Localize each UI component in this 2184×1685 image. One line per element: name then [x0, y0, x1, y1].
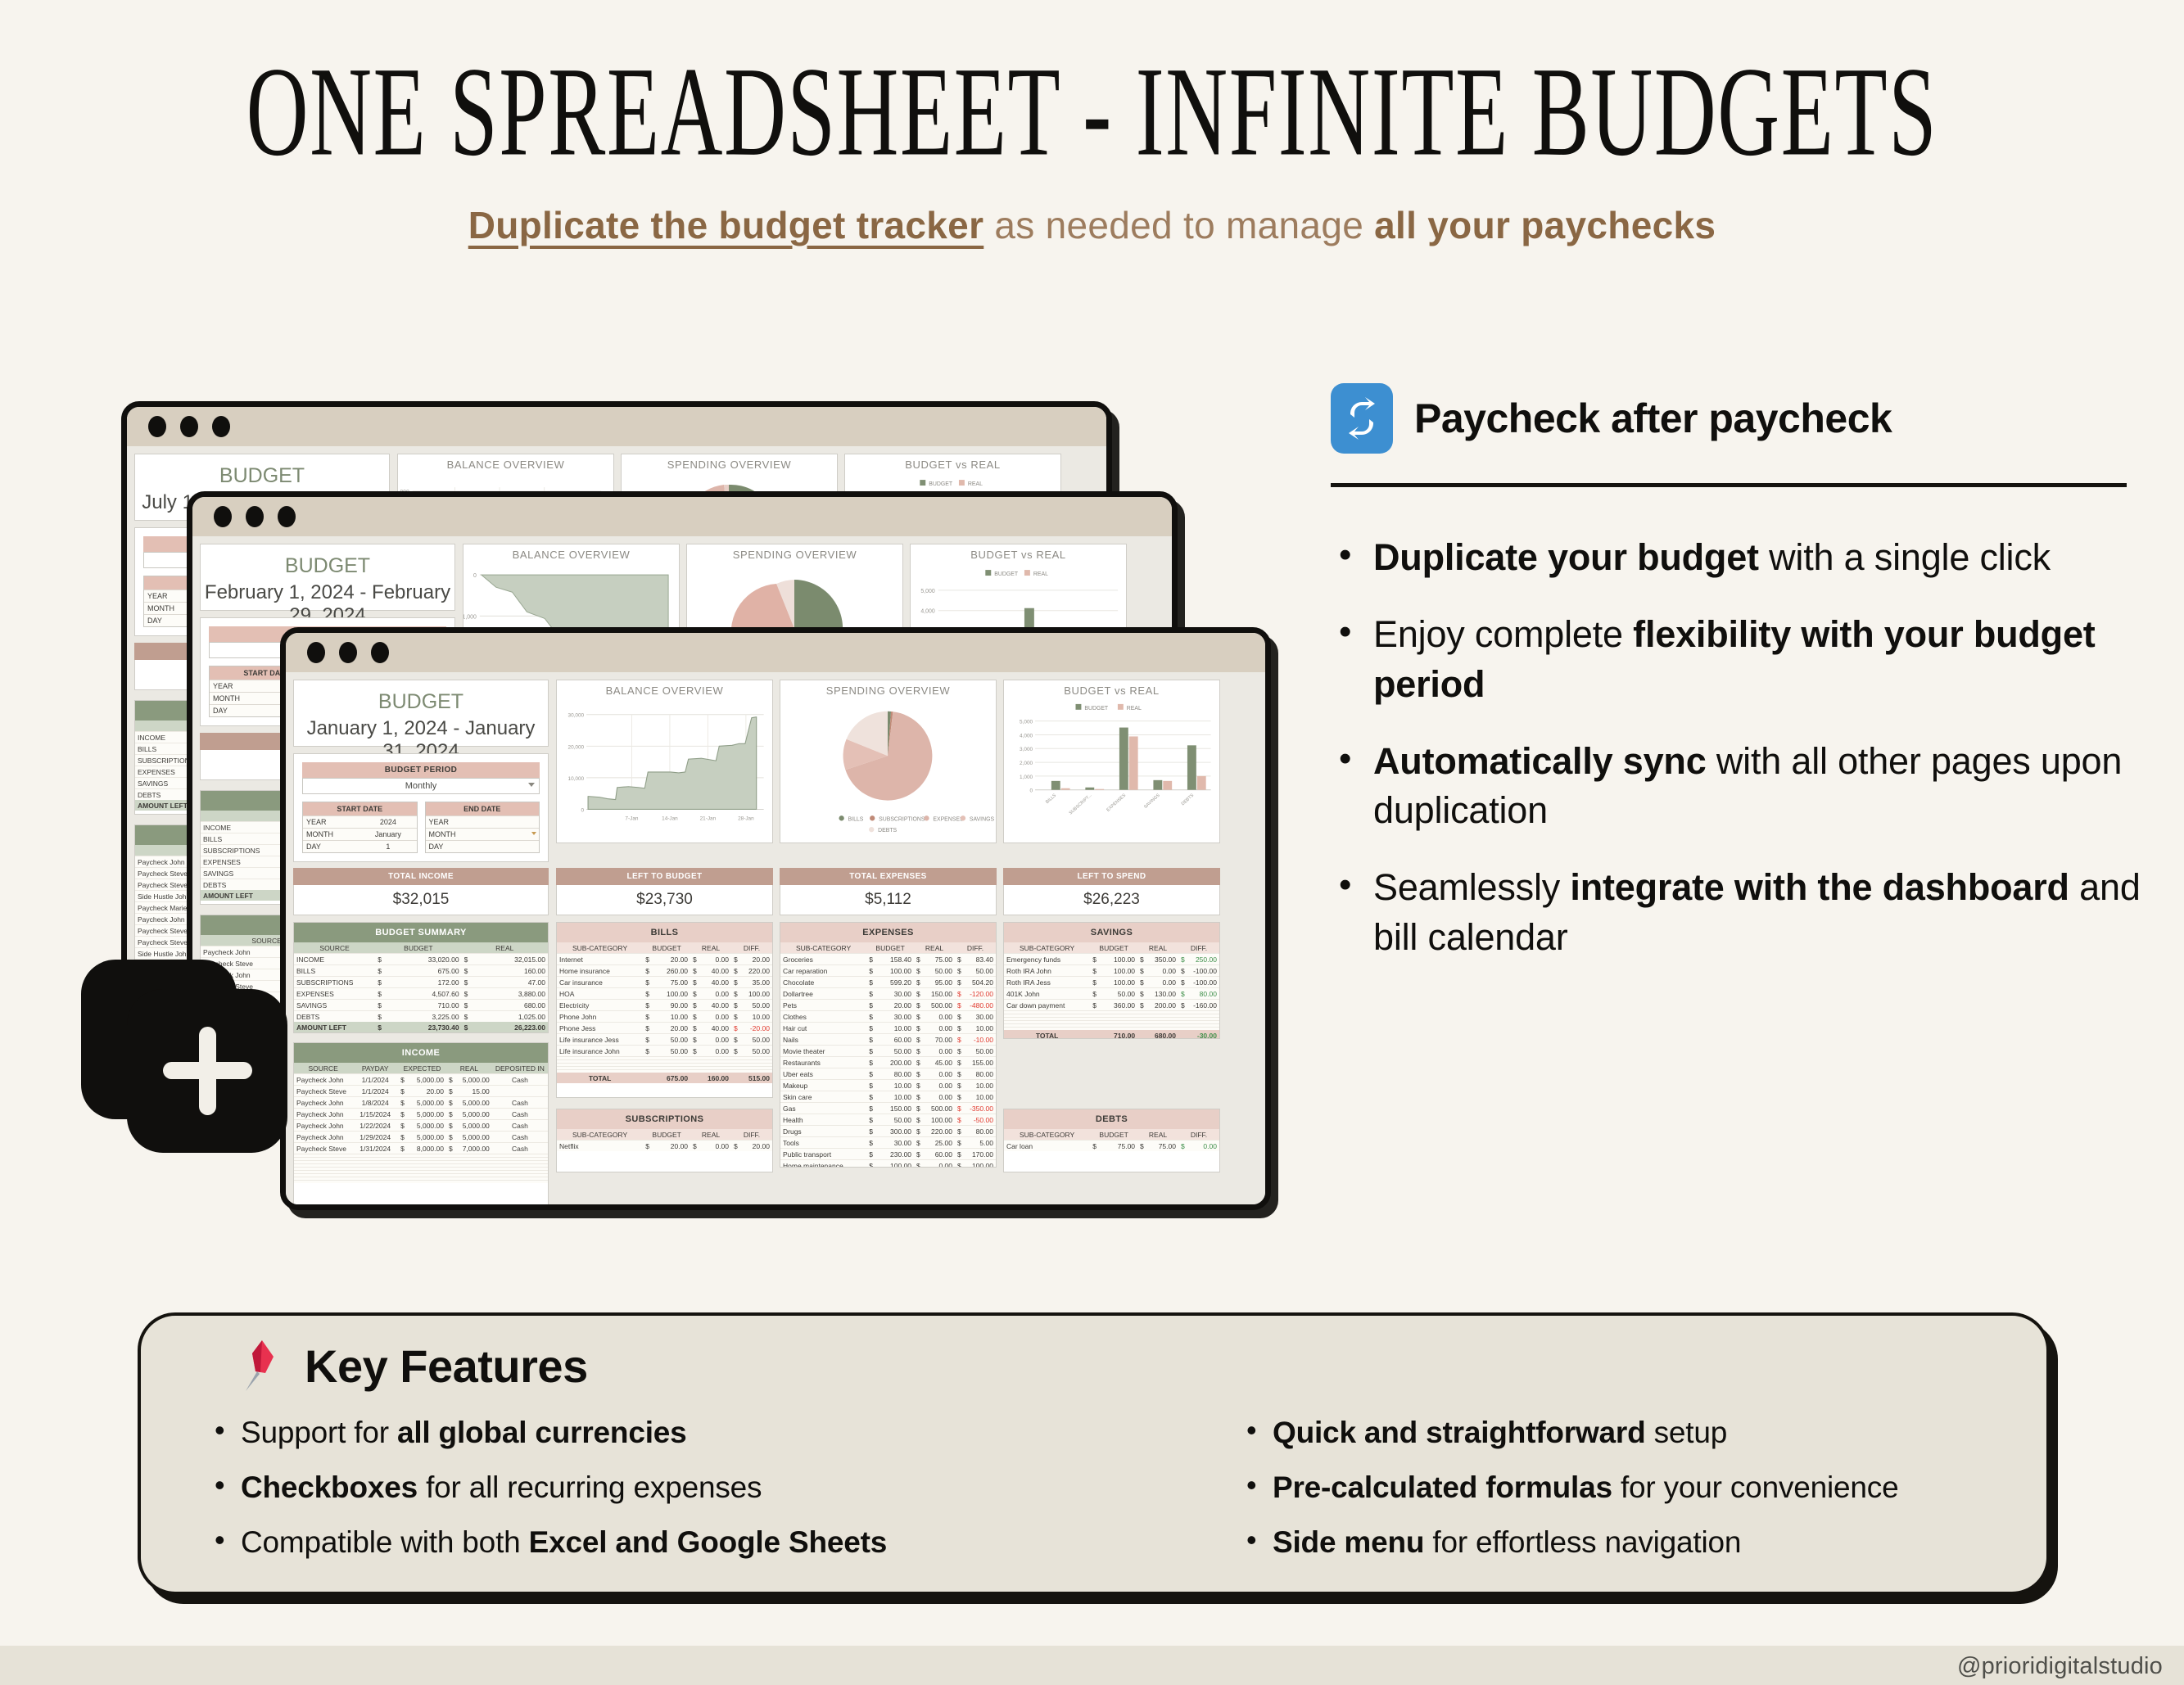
date-field-day: DAY: [426, 840, 540, 852]
table-row: Tools$30.00$25.00$5.00: [780, 1136, 996, 1148]
svg-text:BUDGET: BUDGET: [929, 481, 953, 487]
svg-text:SUBSCRIPT...: SUBSCRIPT...: [1069, 793, 1093, 815]
table-row: EXPENSES$4,507.60$3,880.00: [294, 987, 548, 999]
kpi-total-expenses: TOTAL EXPENSES $5,112: [780, 868, 997, 915]
budget-period-select[interactable]: Monthly: [302, 778, 540, 794]
table-header-row: SUB-CATEGORY BUDGET REAL DIFF.: [557, 1129, 772, 1140]
svg-text:SAVINGS: SAVINGS: [1143, 793, 1161, 810]
svg-text:14-Jan: 14-Jan: [662, 815, 678, 821]
table-row: Clothes$30.00$0.00$30.00: [780, 1010, 996, 1022]
kpi-value: $5,112: [780, 885, 997, 915]
svg-text:0: 0: [473, 573, 477, 579]
svg-text:REAL: REAL: [1033, 571, 1048, 577]
subscriptions-table: SUBSCRIPTIONS SUB-CATEGORY BUDGET REAL D…: [556, 1109, 773, 1172]
table-row: Gas$150.00$500.00$-350.00: [780, 1102, 996, 1114]
window-close-dot[interactable]: [148, 416, 166, 437]
svg-text:0: 0: [1030, 788, 1033, 794]
page-title: ONE SPREADSHEET - INFINITE BUDGETS: [197, 47, 1987, 175]
kpi-label: LEFT TO SPEND: [1003, 868, 1220, 885]
svg-text:SUBSCRIPTIONS: SUBSCRIPTIONS: [879, 816, 925, 822]
table-header-row: SUB-CATEGORY BUDGET REAL DIFF.: [1004, 1129, 1219, 1140]
table-row: Makeup$10.00$0.00$10.00: [780, 1079, 996, 1091]
duplicate-add-icon[interactable]: [78, 956, 315, 1186]
table-row: Paycheck Steve1/31/2024$8,000.00$7,000.0…: [294, 1142, 548, 1154]
feature-heading-row: Paycheck after paycheck: [1331, 383, 2150, 454]
table-row-empty: [1004, 1023, 1219, 1027]
svg-text:BUDGET: BUDGET: [1084, 706, 1109, 711]
kpi-label: LEFT TO BUDGET: [556, 868, 773, 885]
kpi-total-income: TOTAL INCOME $32,015: [293, 868, 549, 915]
table-row: INCOME$33,020.00$32,015.00: [294, 953, 548, 964]
table-row: Electricity$90.00$40.00$50.00: [557, 999, 772, 1010]
table-row: Home maintenance$100.00$0.00$100.00: [780, 1159, 996, 1168]
table-row: Car down payment$360.00$200.00$-160.00: [1004, 999, 1219, 1010]
budget-vs-real-chart: BUDGET REAL 5,000 4,000 3,000 2,000 1,00…: [1004, 697, 1219, 841]
income-table: INCOME SOURCE PAYDAY EXPECTED REAL DEPOS…: [293, 1042, 549, 1210]
table-row: Life insurance Jess$50.00$0.00$50.00: [557, 1033, 772, 1045]
key-feature-item: Pre-calculated formulas for your conveni…: [1238, 1470, 1898, 1505]
spending-overview-chart: BILLS SUBSCRIPTIONS EXPENSES SAVINGS DEB…: [780, 697, 996, 841]
table-title: BUDGET SUMMARY: [294, 923, 548, 942]
table-row: Paycheck Steve1/1/2024$20.00$15.00: [294, 1085, 548, 1096]
table-row: Public transport$230.00$60.00$170.00: [780, 1148, 996, 1159]
svg-text:BILLS: BILLS: [848, 816, 864, 822]
table-row: Home insurance$260.00$40.00$220.00: [557, 964, 772, 976]
key-feature-item: Support for all global currencies: [206, 1416, 1189, 1450]
key-features-header: Key Features: [141, 1316, 2046, 1393]
table-row-empty: [294, 1163, 548, 1167]
window-titlebar: [286, 633, 1265, 672]
table-row-empty: [1004, 1014, 1219, 1017]
table-title: SAVINGS: [1004, 923, 1219, 942]
key-features-left-column: Support for all global currenciesCheckbo…: [206, 1416, 1189, 1580]
date-field-year: YEAR: [426, 815, 540, 828]
expenses-table: EXPENSES SUB-CATEGORY BUDGET REAL DIFF. …: [780, 922, 997, 1168]
svg-text:DEBTS: DEBTS: [878, 828, 897, 833]
window-minimize-dot[interactable]: [180, 416, 198, 437]
table-row: Chocolate$599.20$95.00$504.20: [780, 976, 996, 987]
table-row: Car reparation$100.00$50.00$50.00: [780, 964, 996, 976]
budget-title: BUDGET: [294, 680, 548, 714]
svg-text:BILLS: BILLS: [1045, 793, 1057, 805]
svg-text:0: 0: [581, 807, 585, 813]
table-total-row: AMOUNT LEFT$23,730.40$26,223.00: [294, 1022, 548, 1032]
svg-text:EXPENSES: EXPENSES: [1106, 793, 1127, 812]
table-row: Dollartree$30.00$150.00$-120.00: [780, 987, 996, 999]
svg-text:21-Jan: 21-Jan: [700, 815, 717, 821]
pushpin-icon: [237, 1339, 287, 1393]
table-row: Roth IRA Jess$100.00$0.00$-100.00: [1004, 976, 1219, 987]
table-row: Internet$20.00$0.00$20.00: [557, 953, 772, 964]
svg-text:7-Jan: 7-Jan: [625, 815, 638, 821]
chart-title: BUDGET vs REAL: [911, 544, 1126, 561]
table-rows-container: Car loan$75.00$75.00$0.00: [1004, 1140, 1219, 1151]
bottom-band: [0, 1646, 2184, 1685]
table-title: INCOME: [294, 1043, 548, 1063]
window-minimize-dot[interactable]: [339, 642, 357, 663]
table-rows-container: Internet$20.00$0.00$20.00Home insurance$…: [557, 953, 772, 1073]
chevron-down-icon: [531, 832, 536, 835]
window-maximize-dot[interactable]: [371, 642, 389, 663]
table-row: Paycheck John1/29/2024$5,000.00$5,000.00…: [294, 1131, 548, 1142]
start-date-label: START DATE: [303, 802, 417, 815]
table-title: EXPENSES: [780, 923, 996, 942]
svg-text:-1,000: -1,000: [463, 614, 477, 620]
table-row-empty: [1004, 1010, 1219, 1014]
date-range-row: START DATE YEAR2024 MONTHJanuary DAY1 EN…: [302, 802, 540, 853]
table-header-row: SOURCE PAYDAY EXPECTED REAL DEPOSITED IN: [294, 1063, 548, 1073]
kpi-label: TOTAL EXPENSES: [780, 868, 997, 885]
table-row: Car loan$75.00$75.00$0.00: [1004, 1140, 1219, 1151]
sync-repeat-icon: [1331, 383, 1393, 454]
budget-title: BUDGET: [135, 454, 389, 488]
table-row: Paycheck John1/8/2024$5,000.00$5,000.00C…: [294, 1096, 548, 1108]
svg-text:DEBTS: DEBTS: [1181, 793, 1196, 806]
budget-header-panel: BUDGET January 1, 2024 - January 31, 202…: [293, 680, 549, 747]
table-header-row: SUB-CATEGORY BUDGET REAL DIFF.: [1004, 942, 1219, 953]
end-date-label: END DATE: [426, 802, 540, 815]
table-row: Phone John$10.00$0.00$10.00: [557, 1010, 772, 1022]
table-rows-container: Emergency funds$100.00$350.00$250.00Roth…: [1004, 953, 1219, 1030]
kpi-value: $23,730: [556, 885, 773, 915]
table-row: Nails$60.00$70.00$-10.00: [780, 1033, 996, 1045]
date-field-month[interactable]: MONTHJanuary: [303, 828, 417, 840]
table-header-row: SUB-CATEGORY BUDGET REAL DIFF.: [780, 942, 996, 953]
table-total-row: TOTAL 710.00 680.00 -30.00: [1004, 1030, 1219, 1039]
watermark: @prioridigitalstudio: [1957, 1653, 2163, 1680]
svg-text:20,000: 20,000: [568, 744, 585, 750]
table-row-empty: [557, 1066, 772, 1069]
svg-text:28-Jan: 28-Jan: [738, 815, 754, 821]
key-features-columns: Support for all global currenciesCheckbo…: [141, 1393, 2046, 1580]
budget-period-panel: BUDGET PERIOD Monthly START DATE YEAR202…: [293, 753, 549, 862]
kpi-left-to-budget: LEFT TO BUDGET $23,730: [556, 868, 773, 915]
balance-overview-chart: 30,000 20,000 10,000 0 7-Jan 14-Jan 21-J…: [557, 697, 772, 841]
subtitle: Duplicate the budget tracker as needed t…: [0, 203, 2184, 247]
table-header-row: SUB-CATEGORY BUDGET REAL DIFF.: [557, 942, 772, 953]
balance-overview-panel: BALANCE OVERVIEW 30,000 20,000 10,000 0: [556, 680, 773, 843]
date-field-day: DAY1: [303, 840, 417, 852]
table-row: 401K John$50.00$130.00$80.00: [1004, 987, 1219, 999]
svg-text:5,000: 5,000: [1020, 720, 1033, 725]
chart-title: SPENDING OVERVIEW: [687, 544, 902, 561]
chart-title: BALANCE OVERVIEW: [398, 454, 613, 471]
subtitle-middle: as needed to manage: [983, 204, 1374, 246]
table-row-empty: [294, 1167, 548, 1170]
feature-bullet-list: Duplicate your budget with a single clic…: [1331, 533, 2150, 962]
chart-title: BALANCE OVERVIEW: [463, 544, 679, 561]
table-row: Phone Jess$20.00$40.00$-20.00: [557, 1022, 772, 1033]
table-row: Paycheck John1/15/2024$5,000.00$5,000.00…: [294, 1108, 548, 1119]
svg-text:REAL: REAL: [968, 481, 983, 487]
table-row: Paycheck John1/22/2024$5,000.00$5,000.00…: [294, 1119, 548, 1131]
table-row: Movie theater$50.00$0.00$50.00: [780, 1045, 996, 1056]
chart-title: BUDGET vs REAL: [845, 454, 1060, 471]
budget-vs-real-panel: BUDGET vs REAL BUDGET REAL 5,000 4,000 3…: [1003, 680, 1220, 843]
table-total-row: TOTAL 675.00 160.00 515.00: [557, 1073, 772, 1083]
table-row-empty: [557, 1059, 772, 1063]
window-minimize-dot[interactable]: [246, 506, 264, 527]
kpi-label: TOTAL INCOME: [293, 868, 549, 885]
table-row-empty: [294, 1173, 548, 1177]
table-row: SUBSCRIPTIONS$172.00$47.00: [294, 976, 548, 987]
window-titlebar: [192, 497, 1172, 536]
window-maximize-dot[interactable]: [212, 416, 230, 437]
svg-text:4,000: 4,000: [1020, 733, 1033, 739]
window-titlebar: [127, 407, 1106, 446]
table-row-empty: [294, 1170, 548, 1173]
table-row: Restaurants$200.00$45.00$155.00: [780, 1056, 996, 1068]
svg-text:EXPENSES: EXPENSES: [933, 816, 964, 822]
table-row: Drugs$300.00$220.00$80.00: [780, 1125, 996, 1136]
table-rows-container: Groceries$158.40$75.00$83.40Car reparati…: [780, 953, 996, 1168]
key-features-card: Key Features Support for all global curr…: [138, 1312, 2050, 1595]
table-row: Roth IRA John$100.00$0.00$-100.00: [1004, 964, 1219, 976]
svg-text:5,000: 5,000: [920, 589, 935, 594]
key-features-title: Key Features: [305, 1339, 588, 1393]
window-close-dot[interactable]: [214, 506, 232, 527]
chart-title: SPENDING OVERVIEW: [622, 454, 837, 471]
key-feature-item: Side menu for effortless navigation: [1238, 1525, 1898, 1560]
spreadsheet-window-january[interactable]: BUDGET January 1, 2024 - January 31, 202…: [280, 627, 1271, 1210]
svg-text:1,000: 1,000: [1020, 775, 1033, 780]
date-field-month[interactable]: MONTH: [426, 828, 540, 840]
table-row-empty: [294, 1157, 548, 1160]
bills-table: BILLS SUB-CATEGORY BUDGET REAL DIFF. Int…: [556, 922, 773, 1098]
window-body: BUDGET January 1, 2024 - January 31, 202…: [286, 672, 1265, 1204]
feature-bullet: Enjoy complete flexibility with your bud…: [1331, 610, 2150, 709]
kpi-value: $26,223: [1003, 885, 1220, 915]
feature-heading: Paycheck after paycheck: [1414, 395, 1892, 442]
svg-text:2,000: 2,000: [1020, 761, 1033, 766]
svg-text:3,000: 3,000: [1020, 747, 1033, 752]
svg-text:4,000: 4,000: [920, 609, 935, 615]
chart-title: BALANCE OVERVIEW: [557, 680, 772, 697]
feature-bullet: Duplicate your budget with a single clic…: [1331, 533, 2150, 582]
table-row: Uber eats$80.00$0.00$80.00: [780, 1068, 996, 1079]
table-row-empty: [294, 1154, 548, 1157]
subtitle-bold: all your paychecks: [1374, 204, 1716, 246]
table-title: SUBSCRIPTIONS: [557, 1109, 772, 1129]
spending-overview-panel: SPENDING OVERVIEW BILLS SUBSCRIPTIONS EX…: [780, 680, 997, 843]
start-date-table: START DATE YEAR2024 MONTHJanuary DAY1: [302, 802, 418, 853]
svg-text:SAVINGS: SAVINGS: [970, 816, 995, 822]
table-row-empty: [1004, 1020, 1219, 1023]
table-row: Paycheck John1/1/2024$5,000.00$5,000.00C…: [294, 1073, 548, 1085]
svg-text:30,000: 30,000: [568, 713, 585, 719]
budget-title: BUDGET: [201, 544, 454, 578]
debts-table: DEBTS SUB-CATEGORY BUDGET REAL DIFF. Car…: [1003, 1109, 1220, 1172]
subtitle-underlined: Duplicate the budget tracker: [468, 204, 984, 246]
table-title: BILLS: [557, 923, 772, 942]
table-rows-container: Netflix$20.00$0.00$20.00: [557, 1140, 772, 1151]
date-field-year: YEAR2024: [303, 815, 417, 828]
table-row: DEBTS$3,225.00$1,025.00: [294, 1010, 548, 1022]
table-row: Netflix$20.00$0.00$20.00: [557, 1140, 772, 1151]
table-row: Skin care$10.00$0.00$10.00: [780, 1091, 996, 1102]
table-title: DEBTS: [1004, 1109, 1219, 1129]
key-feature-item: Checkboxes for all recurring expenses: [206, 1470, 1189, 1505]
feature-bullet: Automatically sync with all other pages …: [1331, 737, 2150, 836]
table-row: Pets$20.00$500.00$-480.00: [780, 999, 996, 1010]
kpi-value: $32,015: [293, 885, 549, 915]
chart-title: BUDGET vs REAL: [1004, 680, 1219, 697]
table-row-empty: [1004, 1017, 1219, 1020]
table-row: SAVINGS$710.00$680.00: [294, 999, 548, 1010]
budget-header-panel: BUDGET February 1, 2024 - February 29, 2…: [200, 544, 455, 611]
table-row: Hair cut$10.00$0.00$10.00: [780, 1022, 996, 1033]
table-row: Emergency funds$100.00$350.00$250.00: [1004, 953, 1219, 964]
table-row: BILLS$675.00$160.00: [294, 964, 548, 976]
table-row-empty: [294, 1180, 548, 1183]
budget-period-label: BUDGET PERIOD: [302, 762, 540, 778]
svg-text:BUDGET: BUDGET: [994, 571, 1019, 577]
window-close-dot[interactable]: [307, 642, 325, 663]
panel-divider: [1331, 483, 2127, 487]
key-features-right-column: Quick and straightforward setupPre-calcu…: [1238, 1416, 1898, 1580]
table-row-empty: [294, 1160, 548, 1163]
table-row: Life insurance John$50.00$0.00$50.00: [557, 1045, 772, 1056]
table-row-empty: [557, 1056, 772, 1059]
table-rows-container: Paycheck John1/1/2024$5,000.00$5,000.00C…: [294, 1073, 548, 1183]
key-feature-item: Compatible with both Excel and Google Sh…: [206, 1525, 1189, 1560]
table-row-empty: [294, 1177, 548, 1180]
table-row: Groceries$158.40$75.00$83.40: [780, 953, 996, 964]
savings-table: SAVINGS SUB-CATEGORY BUDGET REAL DIFF. E…: [1003, 922, 1220, 1039]
end-date-table: END DATE YEAR MONTH DAY: [425, 802, 540, 853]
window-maximize-dot[interactable]: [278, 506, 296, 527]
svg-text:REAL: REAL: [1127, 706, 1142, 711]
right-feature-panel: Paycheck after paycheck Duplicate your b…: [1331, 383, 2150, 990]
feature-bullet: Seamlessly integrate with the dashboard …: [1331, 863, 2150, 962]
table-row-empty: [557, 1063, 772, 1066]
table-row: Car insurance$75.00$40.00$35.00: [557, 976, 772, 987]
kpi-left-to-spend: LEFT TO SPEND $26,223: [1003, 868, 1220, 915]
chart-title: SPENDING OVERVIEW: [780, 680, 996, 697]
key-feature-item: Quick and straightforward setup: [1238, 1416, 1898, 1450]
svg-text:10,000: 10,000: [568, 776, 585, 782]
chevron-down-icon: [528, 783, 535, 787]
budget-summary-table: BUDGET SUMMARY SOURCE BUDGET REAL INCOME…: [293, 922, 549, 1033]
table-row: Health$50.00$100.00$-50.00: [780, 1114, 996, 1125]
table-row: HOA$100.00$0.00$100.00: [557, 987, 772, 999]
table-header-row: SOURCE BUDGET REAL: [294, 942, 548, 953]
table-rows-container: INCOME$33,020.00$32,015.00BILLS$675.00$1…: [294, 953, 548, 1032]
